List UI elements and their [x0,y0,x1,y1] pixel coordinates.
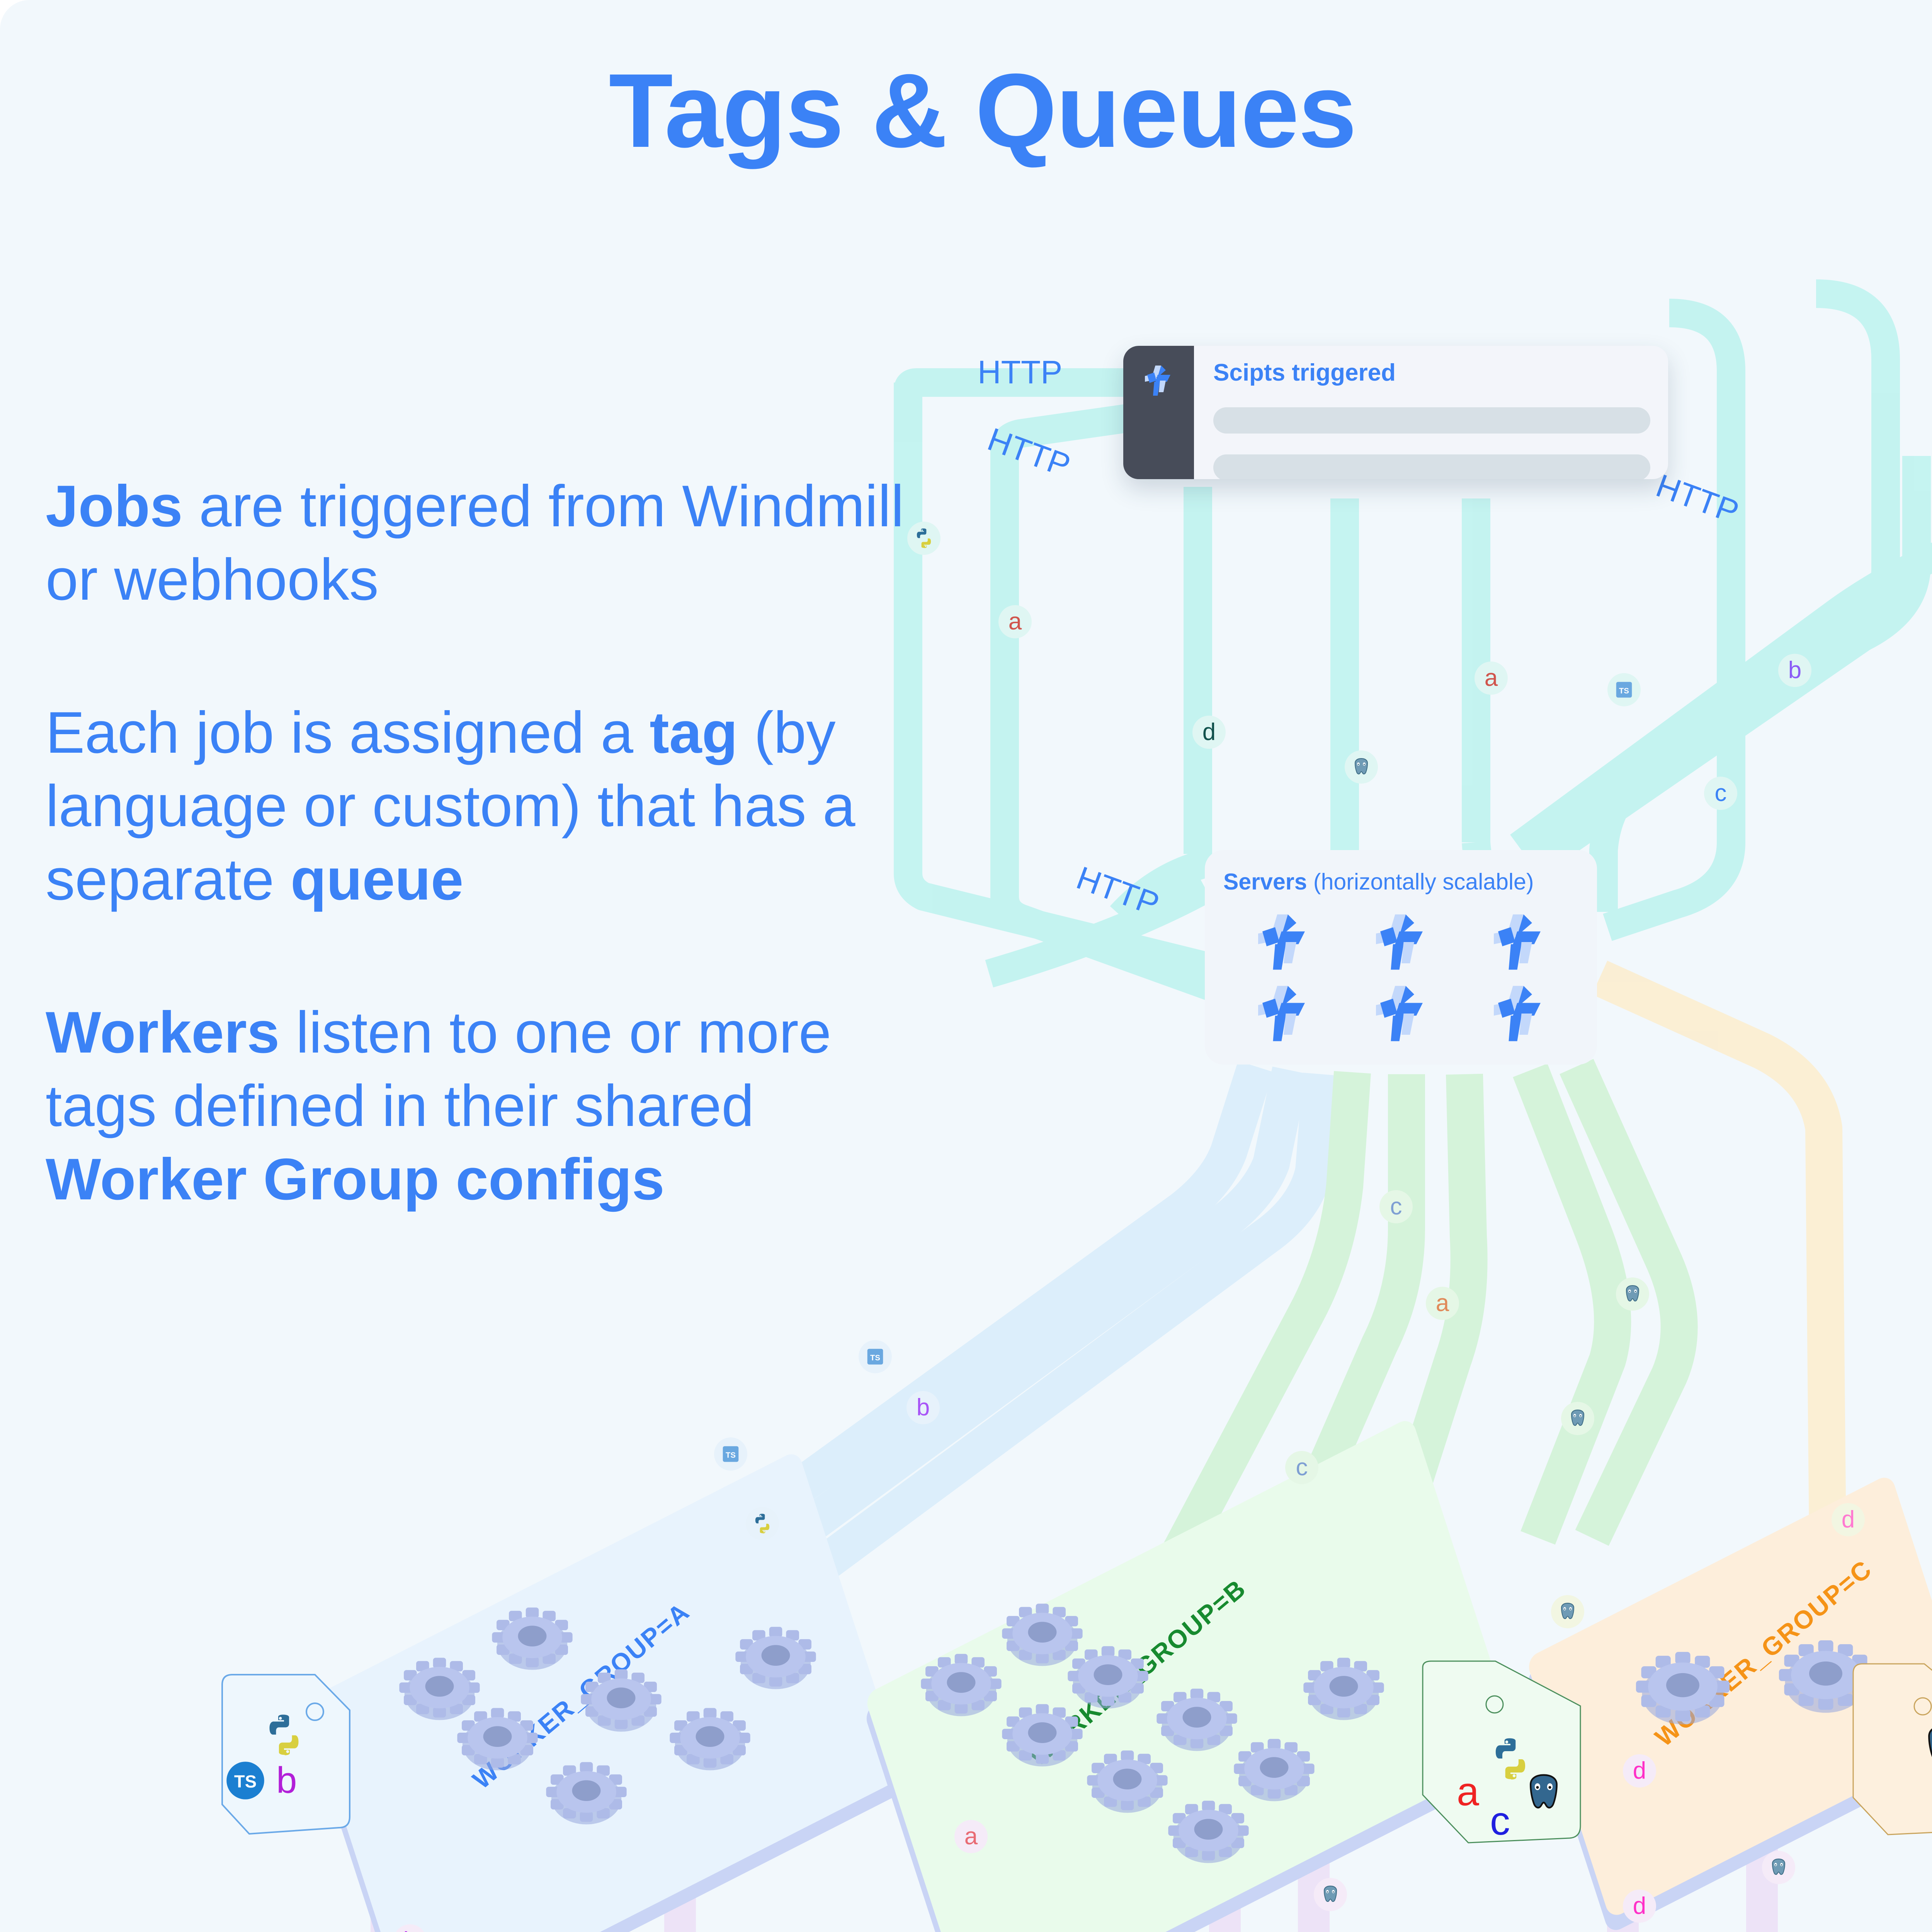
postgresql-icon [1616,1277,1649,1311]
tag-chip-B-letter-a: a [1457,1772,1479,1812]
python-icon [907,522,940,555]
card-body: Scipts triggered [1194,346,1668,479]
server-instance [1344,980,1460,1049]
worker-gear [1167,1789,1250,1874]
worker-group-platform-A[interactable]: WORKER_GROUP=A [328,1569,881,1909]
paragraph-tags-pre: Each job is assigned a [46,700,650,765]
worker-gear [580,1658,663,1743]
svg-text:TS: TS [234,1772,257,1791]
python-icon [261,1712,307,1760]
flow-badge-a: a [1475,662,1508,695]
tag-chip-A-letter-b: b [276,1762,297,1799]
worker-gear [491,1596,574,1681]
card-title: Scipts triggered [1213,359,1650,386]
typescript-icon: TS [225,1760,265,1803]
flow-badge-a: a [998,605,1032,638]
scripts-triggered-card[interactable]: Scipts triggered [1123,346,1668,479]
worker-gear [1001,1692,1084,1777]
server-instance-grid [1226,908,1577,1049]
tag-chip-B[interactable]: a c [1418,1660,1588,1845]
windmill-logo-icon [1250,980,1318,1049]
worker-gear [456,1696,539,1781]
servers-title-bold: Servers [1223,869,1307,895]
flow-badge-d: d [1623,1754,1656,1787]
flow-badge-b: b [1778,654,1811,687]
tag-chip-C[interactable]: d [1851,1662,1932,1835]
flow-badge-b: b [906,1391,940,1424]
postgresql-icon [1551,1595,1584,1628]
svg-text:TS: TS [870,1354,880,1362]
worker-gear [1086,1739,1169,1824]
server-instance [1226,980,1342,1049]
paragraph-workers: Workers listen to one or more tags defin… [46,996,907,1216]
flow-badge-c: c [1704,777,1737,810]
flow-badge-c: c [1285,1451,1318,1484]
paragraph-jobs: Jobs are triggered from Windmill or webh… [46,469,907,616]
worker-gear [1302,1646,1385,1731]
flow-badge-a: a [1426,1287,1459,1320]
tag-chip-B-letter-c: c [1490,1801,1510,1841]
flow-badge-d: d [1623,1889,1656,1923]
paragraph-jobs-lead: Jobs [46,473,183,539]
windmill-logo-icon [1367,908,1435,978]
python-icon [746,1507,779,1540]
paragraph-tags-bold-tag: tag [650,700,738,765]
flow-badge-a: a [954,1820,988,1853]
worker-gear [920,1642,1003,1727]
windmill-logo-icon [1485,908,1553,978]
flow-badge-c: c [1379,1190,1413,1223]
worker-gear [668,1696,752,1781]
page-title: Tags & Queues [0,58,1932,163]
paragraph-tags-bold-queue: queue [291,847,464,912]
typescript-icon: TS [714,1437,747,1471]
http-label: HTTP [978,354,1062,391]
server-instance [1461,908,1577,978]
worker-gear [545,1750,628,1835]
flow-badge-d: d [1832,1503,1865,1536]
server-instance [1226,908,1342,978]
svg-text:TS: TS [726,1451,736,1459]
skeleton-row [1213,407,1650,434]
postgresql-icon [1522,1771,1566,1817]
postgresql-icon [1920,1722,1932,1770]
skeleton-row [1213,454,1650,479]
server-instance [1344,908,1460,978]
flow-badge-d: d [1192,716,1226,749]
explainer-copy: Jobs are triggered from Windmill or webh… [46,469,907,1296]
servers-panel: Servers (horizontally scalable) [1205,850,1597,1065]
paragraph-workers-lead: Workers [46,1000,279,1065]
windmill-logo-icon [1250,908,1318,978]
paragraph-tags: Each job is assigned a tag (by language … [46,696,907,916]
postgresql-icon [1345,750,1378,784]
svg-text:TS: TS [1619,687,1629,695]
servers-title: Servers (horizontally scalable) [1223,869,1534,895]
infographic-canvas: Tags & Queues Jobs are triggered from Wi… [0,0,1932,1932]
card-sidebar [1123,346,1194,479]
postgresql-icon [1314,1878,1347,1911]
typescript-icon: TS [1607,673,1641,706]
server-instance [1461,980,1577,1049]
postgresql-icon [1762,1851,1795,1884]
worker-gear [1634,1638,1731,1737]
postgresql-icon [1561,1402,1594,1435]
paragraph-workers-bold: Worker Group configs [46,1146,665,1212]
typescript-icon: TS [859,1340,892,1373]
tag-chip-A[interactable]: TS b [211,1673,361,1835]
servers-title-rest: (horizontally scalable) [1307,869,1534,895]
windmill-logo-icon [1140,362,1177,401]
worker-gear [734,1615,817,1700]
windmill-logo-icon [1485,980,1553,1049]
windmill-logo-icon [1367,980,1435,1049]
